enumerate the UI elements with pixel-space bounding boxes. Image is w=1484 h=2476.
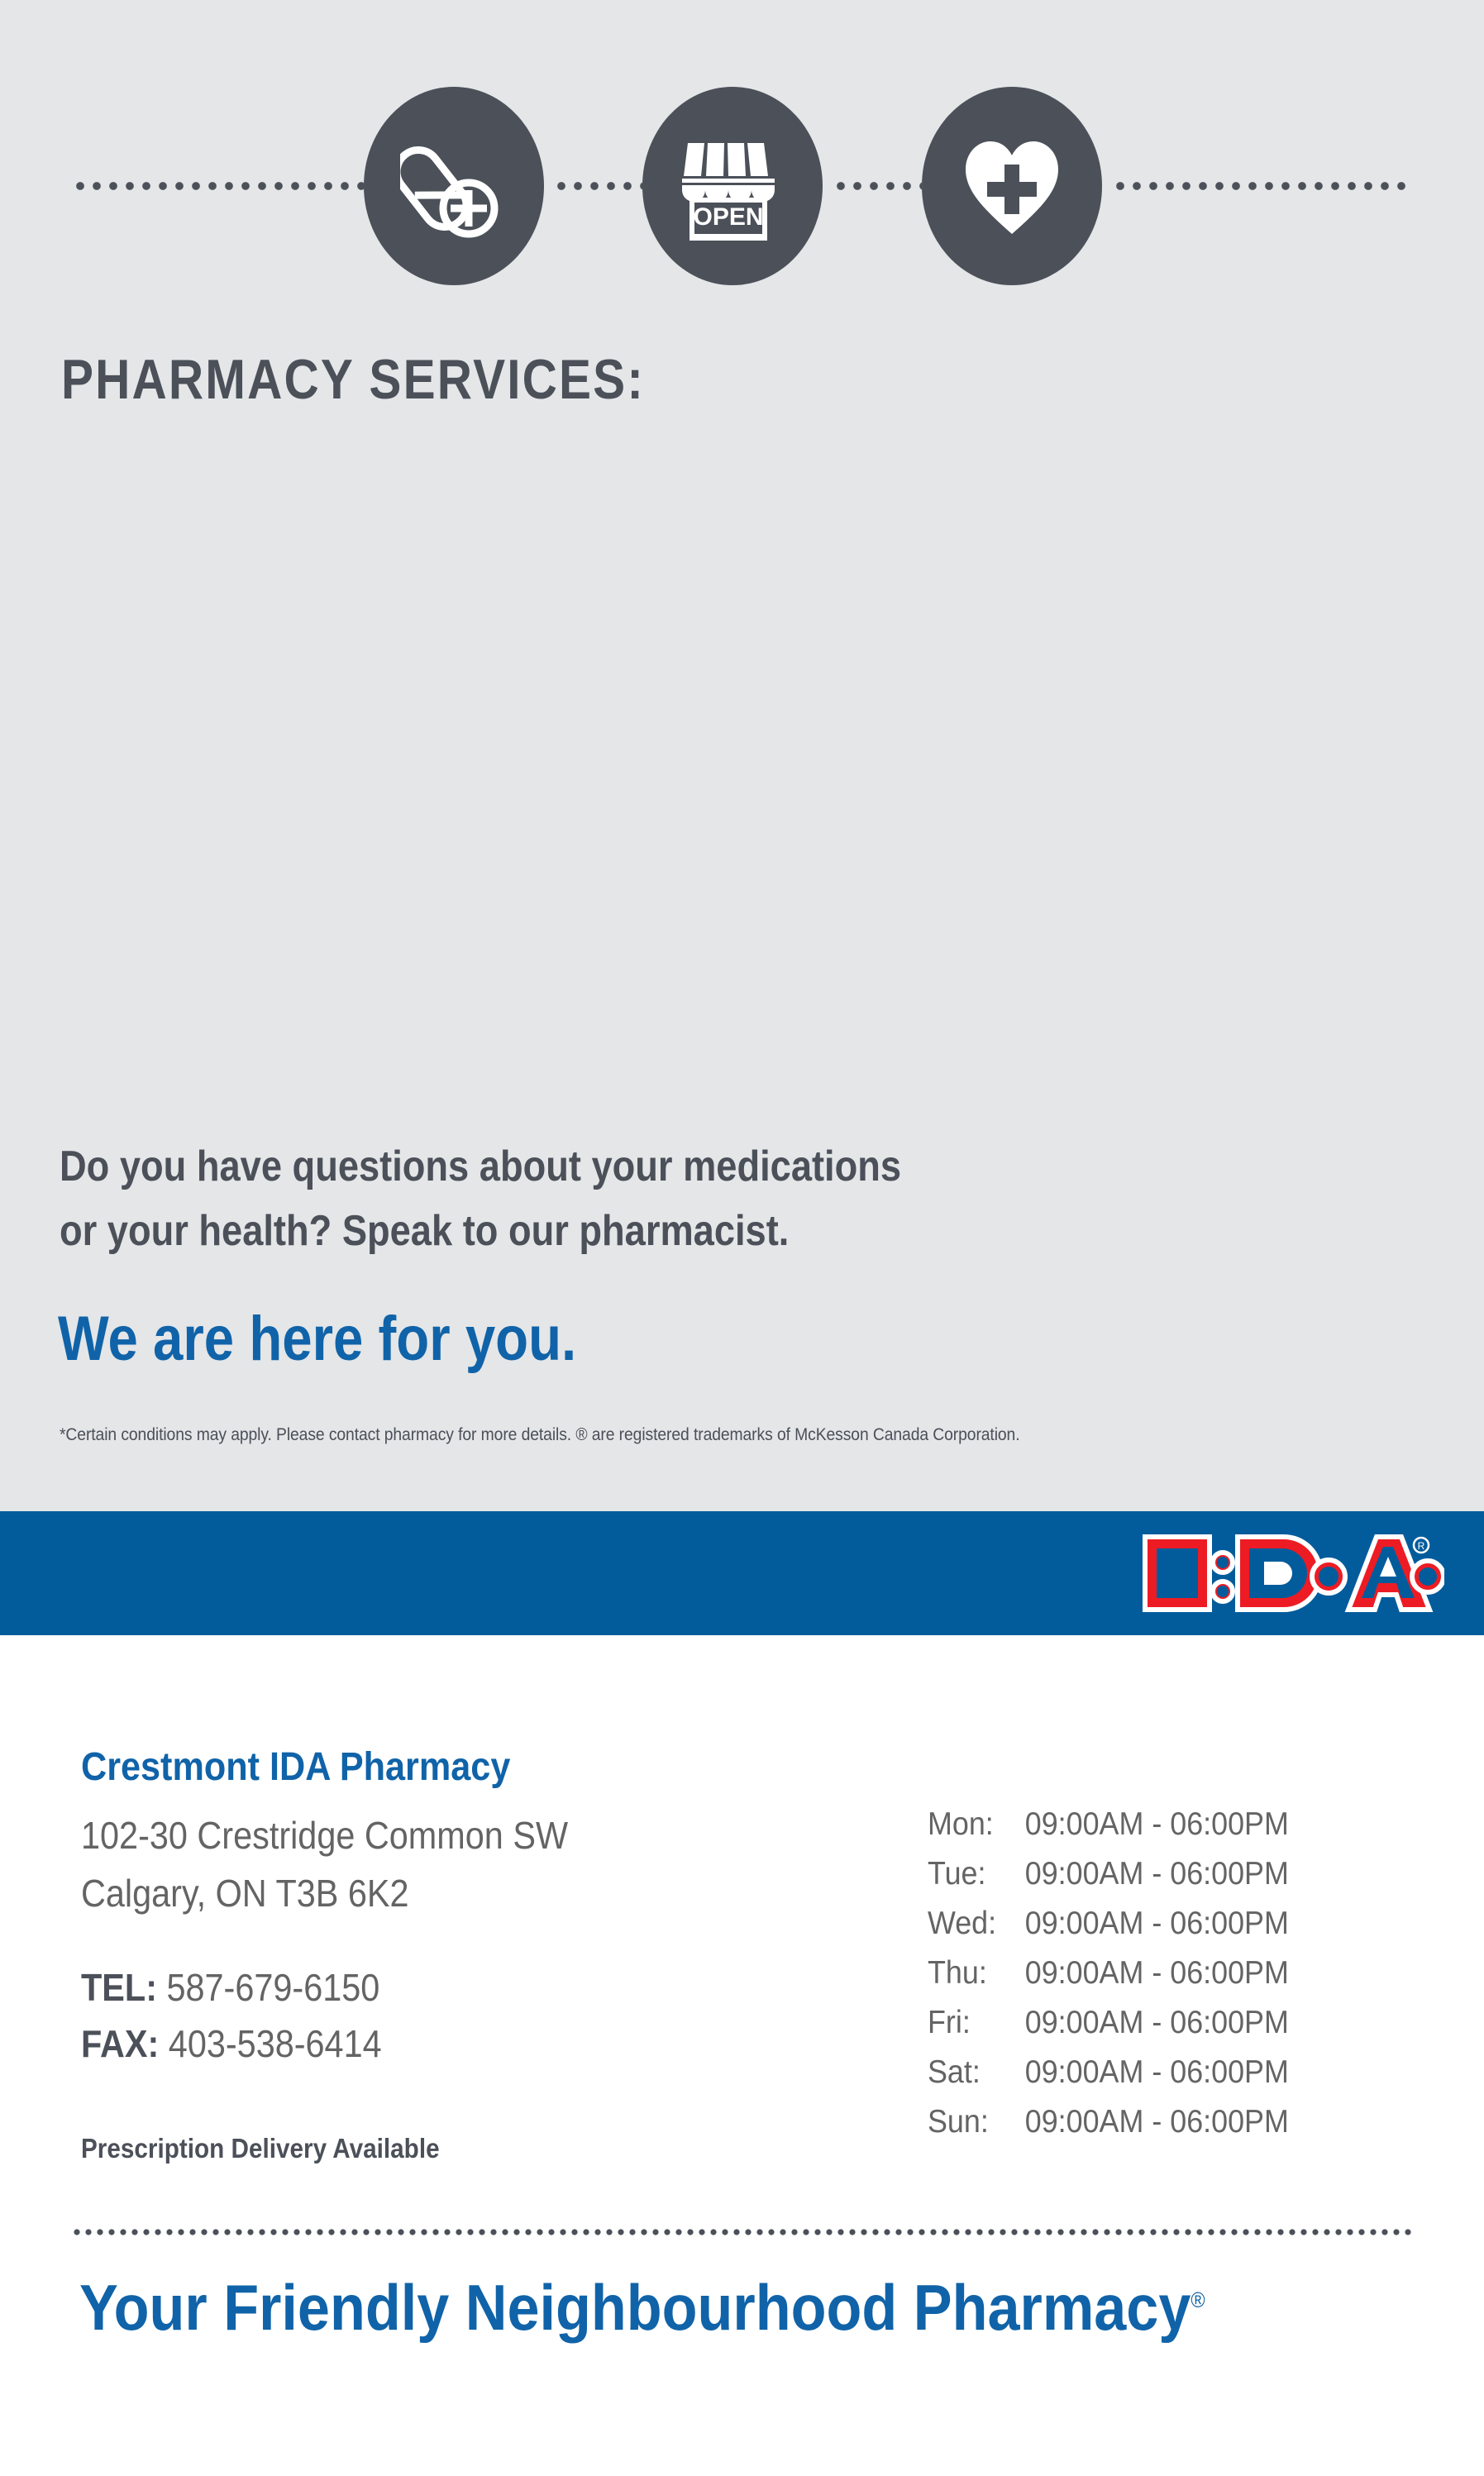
hours-day-label: Sun:	[928, 2104, 1025, 2140]
icon-bubble-health	[922, 87, 1102, 285]
fax-row: FAX: 403-538-6414	[81, 2016, 382, 2072]
footer-registered-mark: ®	[1191, 2288, 1205, 2312]
footer-tagline: Your Friendly Neighbourhood Pharmacy®	[79, 2270, 1205, 2345]
store-hours-table: Mon: 09:00AM - 06:00PM Tue: 09:00AM - 06…	[928, 1806, 1289, 2154]
ida-logo: R	[1140, 1525, 1444, 1621]
dotted-connector-mid-left	[556, 180, 642, 192]
hours-day-label: Sat:	[928, 2054, 1025, 2091]
hours-day-label: Mon:	[928, 1806, 1025, 1843]
top-grey-panel: OPEN PHARMACY SERVICES: Do you have ques…	[0, 0, 1484, 1511]
hours-time-value: 09:00AM - 06:00PM	[1025, 1906, 1289, 1942]
page-title: PHARMACY SERVICES:	[61, 347, 645, 412]
promo-question-line1: Do you have questions about your medicat…	[60, 1134, 1103, 1199]
registered-mark-icon: R	[1414, 1538, 1429, 1553]
brand-blue-bar: R	[0, 1511, 1484, 1635]
store-name: Crestmont IDA Pharmacy	[81, 1744, 510, 1790]
hours-time-value: 09:00AM - 06:00PM	[1025, 1806, 1289, 1843]
store-contact: TEL: 587-679-6150 FAX: 403-538-6414	[81, 1959, 382, 2072]
ida-logo-mark: R	[1140, 1525, 1444, 1621]
promo-tagline: We are here for you.	[58, 1303, 576, 1375]
heart-plus-icon	[959, 133, 1065, 239]
fax-value: 403-538-6414	[169, 2022, 382, 2065]
hours-row: Tue: 09:00AM - 06:00PM	[928, 1856, 1289, 1906]
hours-time-value: 09:00AM - 06:00PM	[1025, 2005, 1289, 2041]
hours-time-value: 09:00AM - 06:00PM	[1025, 1856, 1289, 1892]
hours-row: Fri: 09:00AM - 06:00PM	[928, 2005, 1289, 2054]
telephone-label: TEL:	[81, 1966, 157, 2009]
dotted-connector-right	[1114, 180, 1405, 192]
hours-time-value: 09:00AM - 06:00PM	[1025, 1955, 1289, 1992]
icon-bubble-open-store: OPEN	[642, 87, 823, 285]
storefront-open-label: OPEN	[693, 203, 763, 231]
delivery-note: Prescription Delivery Available	[81, 2133, 440, 2164]
dotted-connector-mid-right	[835, 180, 922, 192]
dotted-connector-left	[74, 180, 364, 192]
hours-row: Thu: 09:00AM - 06:00PM	[928, 1955, 1289, 2005]
hours-time-value: 09:00AM - 06:00PM	[1025, 2104, 1289, 2140]
footer-dotted-divider	[73, 2227, 1412, 2237]
hours-row: Sun: 09:00AM - 06:00PM	[928, 2104, 1289, 2154]
telephone-row: TEL: 587-679-6150	[81, 1959, 382, 2016]
hours-row: Mon: 09:00AM - 06:00PM	[928, 1806, 1289, 1856]
pills-plus-icon	[400, 132, 508, 240]
telephone-value[interactable]: 587-679-6150	[166, 1966, 379, 2009]
footer-tagline-text: Your Friendly Neighbourhood Pharmacy	[79, 2271, 1191, 2344]
hours-day-label: Fri:	[928, 2005, 1025, 2041]
hours-time-value: 09:00AM - 06:00PM	[1025, 2054, 1289, 2091]
svg-text:R: R	[1418, 1540, 1425, 1552]
hours-day-label: Wed:	[928, 1906, 1025, 1942]
hours-day-label: Thu:	[928, 1955, 1025, 1992]
promo-question: Do you have questions about your medicat…	[60, 1134, 1103, 1263]
store-address: 102-30 Crestridge Common SW Calgary, ON …	[81, 1806, 568, 1922]
hours-row: Wed: 09:00AM - 06:00PM	[928, 1906, 1289, 1955]
hours-row: Sat: 09:00AM - 06:00PM	[928, 2054, 1289, 2104]
storefront-open-icon: OPEN	[680, 131, 785, 241]
fax-label: FAX:	[81, 2022, 159, 2065]
icon-bubble-prescriptions	[364, 87, 544, 285]
address-line-2: Calgary, ON T3B 6K2	[81, 1864, 568, 1922]
legal-disclaimer: *Certain conditions may apply. Please co…	[60, 1425, 1020, 1445]
address-line-1: 102-30 Crestridge Common SW	[81, 1806, 568, 1864]
promo-question-line2: or your health? Speak to our pharmacist.	[60, 1199, 1103, 1263]
icon-strip: OPEN	[0, 87, 1484, 285]
hours-day-label: Tue:	[928, 1856, 1025, 1892]
pharmacy-flyer-page: OPEN PHARMACY SERVICES: Do you have ques…	[0, 0, 1484, 2476]
